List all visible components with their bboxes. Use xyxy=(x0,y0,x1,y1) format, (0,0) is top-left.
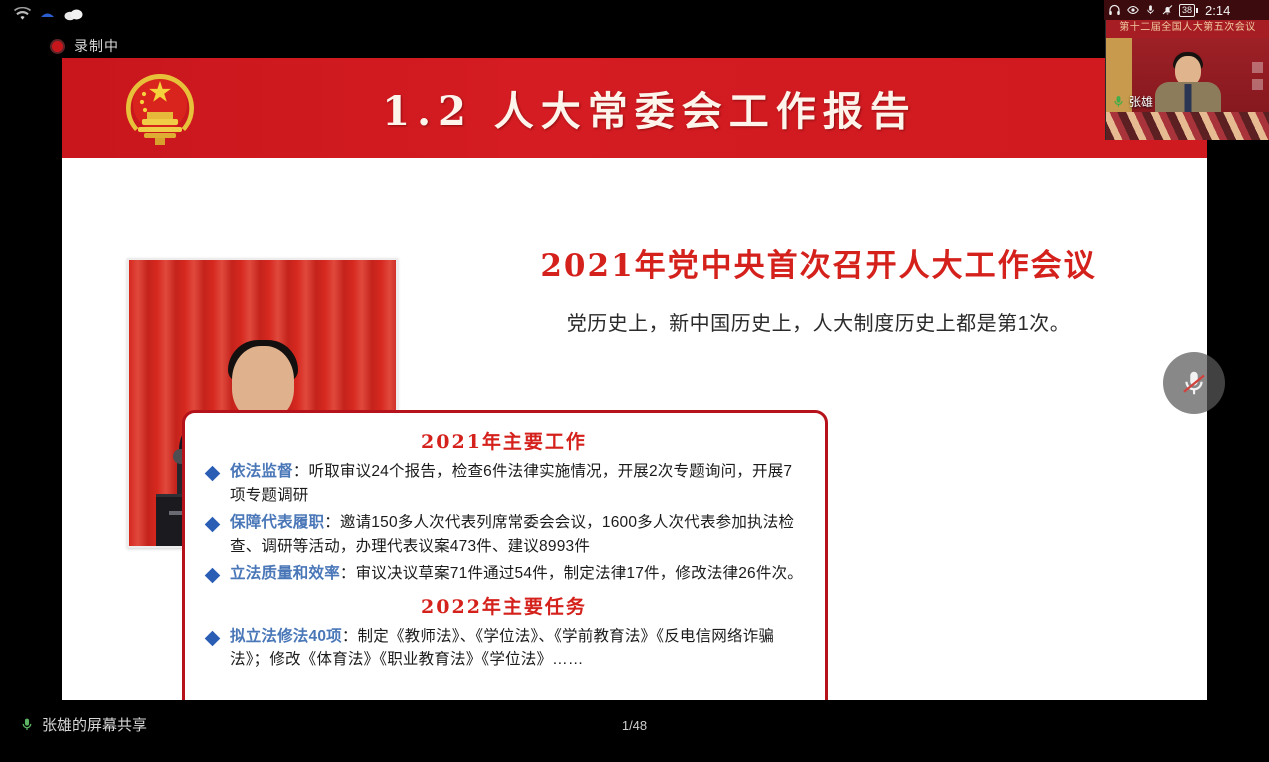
signal-icon xyxy=(40,8,55,20)
bell-muted-icon xyxy=(1161,4,1174,16)
bullet-separator: ： xyxy=(340,565,356,582)
content-heading-2022: 2022年主要任务 xyxy=(201,592,807,619)
photo-person-head xyxy=(232,346,294,420)
video-participant-name: 张雄 xyxy=(1112,93,1153,110)
wifi-icon xyxy=(14,7,31,21)
diamond-bullet-icon xyxy=(205,568,221,584)
slide-header: 1.2 人大常委会工作报告 xyxy=(62,58,1207,158)
recording-dot-icon xyxy=(50,39,65,54)
video-banner-text: 第十二届全国人大第五次会议 xyxy=(1106,18,1269,38)
microphone-icon-green xyxy=(1112,94,1125,109)
bullet-separator: ： xyxy=(324,514,340,531)
bottom-bar: 张雄的屏幕共享 1/48 xyxy=(0,700,1269,762)
microphone-icon xyxy=(1145,4,1156,16)
clock-time: 2:14 xyxy=(1205,3,1230,18)
slide-right-column: 2021年党中央首次召开人大工作会议 党历史上，新中国历史上，人大制度历史上都是… xyxy=(440,158,1197,336)
cloud-icon xyxy=(64,8,83,21)
content-heading-2021: 2021年主要工作 xyxy=(201,427,807,454)
bullet-body: 审议决议草案71件通过54件，制定法律17件，修改法律26件次。 xyxy=(356,565,803,582)
bullet-item: 拟立法修法40项：制定《教师法》、《学位法》、《学前教育法》《反电信网络诈骗法》… xyxy=(201,625,807,672)
video-participant-name-text: 张雄 xyxy=(1129,93,1153,110)
shared-screen-slide: 1.2 人大常委会工作报告 2021年党中央首次召开人大工作会议 xyxy=(62,58,1207,700)
slide-title: 1.2 人大常委会工作报告 xyxy=(62,79,1207,137)
slide-body: 2021年党中央首次召开人大工作会议 党历史上，新中国历史上，人大制度历史上都是… xyxy=(62,158,1207,700)
slide-subline: 党历史上，新中国历史上，人大制度历史上都是第1次。 xyxy=(440,307,1197,336)
video-carpet-decor xyxy=(1106,112,1269,140)
bullet-separator: ： xyxy=(293,463,309,480)
mute-microphone-button[interactable] xyxy=(1163,352,1225,414)
bullet-label: 立法质量和效率 xyxy=(230,565,340,582)
diamond-bullet-icon xyxy=(205,630,221,646)
microphone-muted-icon xyxy=(1179,368,1209,398)
system-status-left xyxy=(14,3,83,25)
video-side-text-decor xyxy=(1252,62,1263,90)
bullet-body: 听取审议24个报告，检查6件法律实施情况，开展2次专题询问，开展7项专题调研 xyxy=(230,463,792,504)
bullet-item: 依法监督：听取审议24个报告，检查6件法律实施情况，开展2次专题询问，开展7项专… xyxy=(201,460,807,507)
bullet-label: 保障代表履职 xyxy=(230,514,324,531)
bullet-label: 依法监督 xyxy=(230,463,293,480)
participant-video-tile[interactable]: 第十二届全国人大第五次会议 张雄 xyxy=(1105,18,1269,140)
video-person-tie xyxy=(1184,84,1191,114)
bullet-separator: ： xyxy=(342,628,358,645)
page-counter: 1/48 xyxy=(0,718,1269,733)
recording-label: 录制中 xyxy=(74,36,119,56)
national-emblem-icon xyxy=(114,66,206,152)
content-box: 2021年主要工作 依法监督：听取审议24个报告，检查6件法律实施情况，开展2次… xyxy=(182,410,828,700)
eye-icon xyxy=(1126,4,1140,16)
bullet-item: 保障代表履职：邀请150多人次代表列席常委会会议，1600多人次代表参加执法检查… xyxy=(201,511,807,558)
screen-root: 录制中 xyxy=(0,0,1269,762)
bullet-item: 立法质量和效率：审议决议草案71件通过54件，制定法律17件，修改法律26件次。 xyxy=(201,562,807,586)
battery-icon: 38 xyxy=(1179,4,1198,17)
slide-headline: 2021年党中央首次召开人大工作会议 xyxy=(440,240,1197,285)
battery-level: 38 xyxy=(1179,4,1195,17)
diamond-bullet-icon xyxy=(205,466,221,482)
diamond-bullet-icon xyxy=(205,517,221,533)
system-status-right: 38 2:14 xyxy=(1104,0,1269,20)
recording-indicator: 录制中 xyxy=(50,36,119,56)
bullet-label: 拟立法修法40项 xyxy=(230,628,342,645)
headphones-icon xyxy=(1108,4,1121,16)
